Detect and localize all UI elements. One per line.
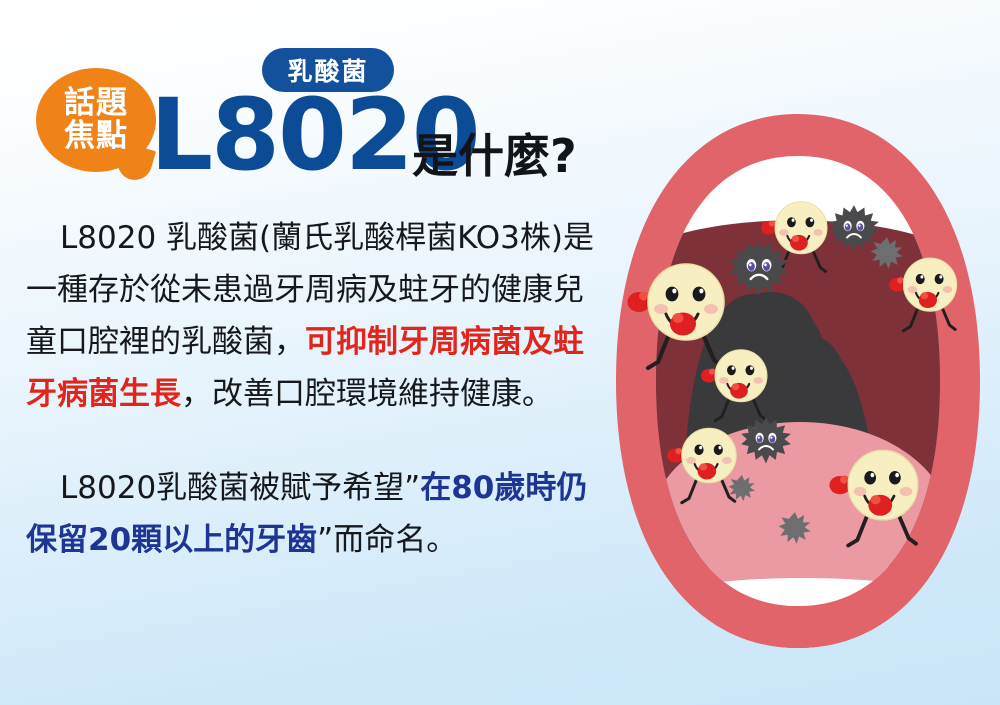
mouth-illustration — [588, 96, 1000, 666]
header-block: 話題 焦點 乳酸菌 L8020 是什麼? — [0, 0, 640, 200]
p2-text-b: ”而命名。 — [317, 522, 457, 558]
poster-canvas: 話題 焦點 乳酸菌 L8020 是什麼? L8020 乳酸菌(蘭氏乳酸桿菌KO3… — [0, 0, 1000, 705]
headline-question: 是什麼? — [412, 133, 577, 179]
body-copy: L8020 乳酸菌(蘭氏乳酸桿菌KO3株)是一種存於從未患過牙周病及蛀牙的健康兒… — [26, 212, 602, 566]
tag-label: 乳酸菌 — [287, 52, 368, 88]
topic-focus-badge: 話題 焦點 — [36, 68, 156, 172]
badge-line-1: 話題 — [64, 87, 128, 120]
topic-focus-badge-text: 話題 焦點 — [64, 87, 128, 153]
badge-line-2: 焦點 — [64, 120, 128, 153]
p2-text-a: L8020乳酸菌被賦予希望” — [60, 470, 420, 506]
paragraph-1: L8020 乳酸菌(蘭氏乳酸桿菌KO3株)是一種存於從未患過牙周病及蛀牙的健康兒… — [26, 212, 602, 420]
p1-text-b: ，改善口腔環境維持健康。 — [181, 376, 553, 412]
paragraph-2: L8020乳酸菌被賦予希望”在80歲時仍保留20顆以上的牙齒”而命名。 — [26, 462, 602, 566]
